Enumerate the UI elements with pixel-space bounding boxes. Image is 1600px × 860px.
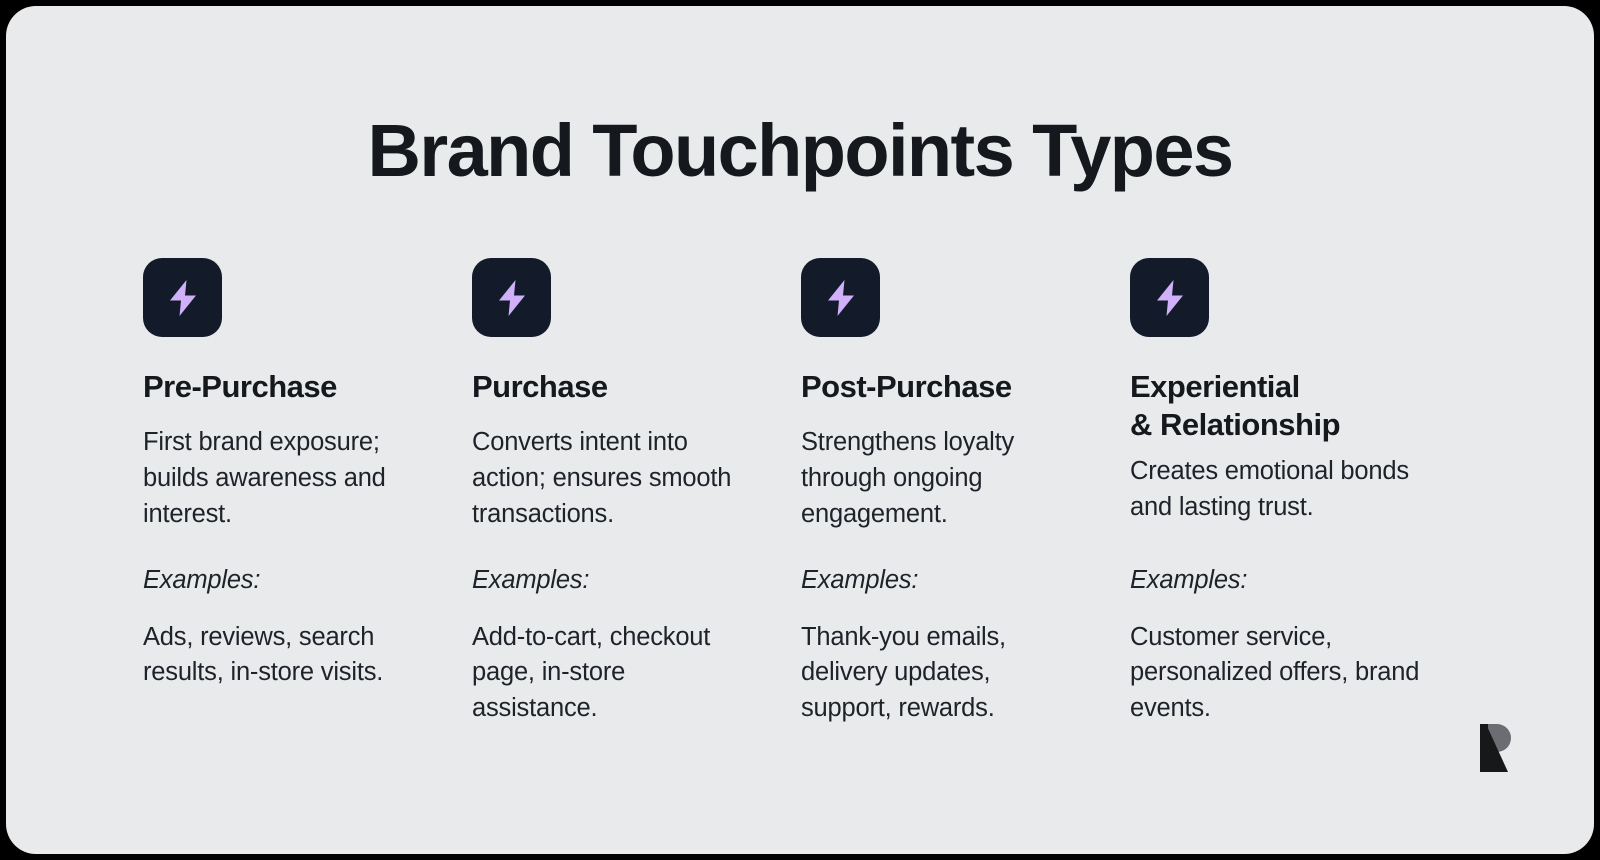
examples-block: Examples: Thank-you emails, delivery upd…: [801, 565, 1130, 727]
examples-label: Examples:: [143, 565, 472, 596]
card-description: Creates emotional bonds and lasting trus…: [1130, 454, 1440, 525]
infographic-panel: Brand Touchpoints Types Pre-Purchase Fir…: [6, 6, 1594, 854]
touchpoint-card-experiential-relationship: Experiential & Relationship Creates emot…: [1130, 258, 1470, 525]
examples-text: Ads, reviews, search results, in-store v…: [143, 620, 423, 691]
lightning-bolt-icon: [143, 258, 222, 337]
card-description: Converts intent into action; ensures smo…: [472, 425, 757, 532]
card-heading: Purchase: [472, 368, 801, 406]
examples-block: Examples: Add-to-cart, checkout page, in…: [472, 565, 801, 727]
touchpoint-card-purchase: Purchase Converts intent into action; en…: [472, 258, 801, 533]
lightning-bolt-icon: [1130, 258, 1209, 337]
card-heading: Post-Purchase: [801, 368, 1130, 406]
examples-block: Examples: Ads, reviews, search results, …: [143, 565, 472, 691]
examples-label: Examples:: [801, 565, 1130, 596]
screenshot-canvas: Brand Touchpoints Types Pre-Purchase Fir…: [0, 0, 1600, 860]
card-heading: Experiential & Relationship: [1130, 368, 1470, 445]
touchpoint-card-post-purchase: Post-Purchase Strengthens loyalty throug…: [801, 258, 1130, 533]
brand-logo-r-icon: [1470, 714, 1516, 772]
examples-label: Examples:: [472, 565, 801, 596]
touchpoint-columns: Pre-Purchase First brand exposure; build…: [143, 258, 1483, 533]
card-description: First brand exposure; builds awareness a…: [143, 425, 428, 532]
card-description: Strengthens loyalty through ongoing enga…: [801, 425, 1086, 532]
page-title: Brand Touchpoints Types: [6, 114, 1594, 188]
lightning-bolt-icon: [801, 258, 880, 337]
examples-label: Examples:: [1130, 565, 1470, 596]
examples-block: Examples: Customer service, personalized…: [1130, 565, 1470, 727]
touchpoint-card-pre-purchase: Pre-Purchase First brand exposure; build…: [143, 258, 472, 533]
examples-text: Add-to-cart, checkout page, in-store ass…: [472, 620, 752, 727]
card-heading: Pre-Purchase: [143, 368, 472, 406]
lightning-bolt-icon: [472, 258, 551, 337]
examples-text: Customer service, personalized offers, b…: [1130, 620, 1430, 727]
examples-text: Thank-you emails, delivery updates, supp…: [801, 620, 1081, 727]
